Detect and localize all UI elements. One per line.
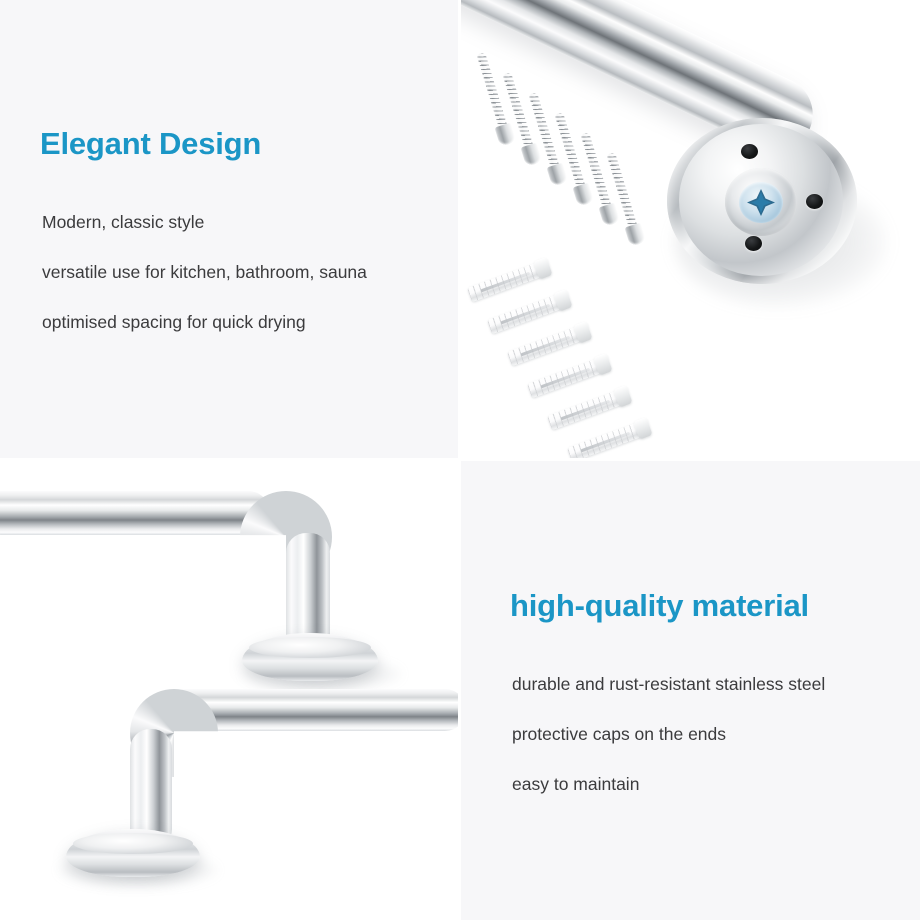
screw-head <box>624 223 646 247</box>
elegant-design-headline: Elegant Design <box>40 126 261 162</box>
elegant-design-bullet-3: optimised spacing for quick drying <box>42 312 306 333</box>
grab-bar-lower-base <box>66 829 200 877</box>
photo-grab-bars: STAINLESS STEEL RUST <box>0 461 458 920</box>
screw-head <box>572 183 594 207</box>
bolt-hole-top <box>741 144 758 159</box>
photo-flange-and-screws <box>461 0 920 458</box>
screw-shank <box>476 52 509 135</box>
bolt-hole-right <box>806 194 823 209</box>
screw-head <box>494 123 516 147</box>
base-top-face <box>73 833 194 854</box>
elegant-design-bullet-1: Modern, classic style <box>42 212 204 233</box>
screw-head <box>598 203 620 227</box>
bolt-hole-bottom <box>745 236 762 251</box>
high-quality-material-bullet-1: durable and rust-resistant stainless ste… <box>512 674 825 695</box>
center-screw-cap <box>739 182 783 223</box>
screw-head <box>520 143 542 167</box>
elegant-design-bullet-2: versatile use for kitchen, bathroom, sau… <box>42 262 367 283</box>
grab-bar-upper-base <box>242 633 378 681</box>
chrome-flange <box>667 110 857 286</box>
panel-elegant-design: Elegant Design Modern, classic style ver… <box>0 0 458 458</box>
phillips-cross-icon <box>739 182 783 223</box>
base-top-face <box>249 637 371 658</box>
screw-head <box>546 163 568 187</box>
high-quality-material-bullet-3: easy to maintain <box>512 774 639 795</box>
high-quality-material-headline: high-quality material <box>510 588 809 624</box>
grab-bar-upper-rail <box>0 491 270 535</box>
high-quality-material-bullet-2: protective caps on the ends <box>512 724 726 745</box>
infographic-page: Elegant Design Modern, classic style ver… <box>0 0 920 920</box>
